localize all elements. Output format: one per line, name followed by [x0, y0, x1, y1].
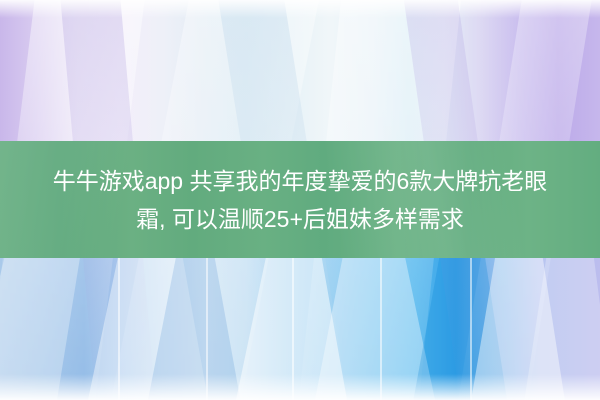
caption-banner: 牛牛游戏app 共享我的年度挚爱的6款大牌抗老眼 霜, 可以温顺25+后姐妹多样…	[0, 141, 600, 258]
bottom-edge-glow	[0, 374, 600, 400]
banner-image: 牛牛游戏app 共享我的年度挚爱的6款大牌抗老眼 霜, 可以温顺25+后姐妹多样…	[0, 0, 600, 400]
caption-line-2: 霜, 可以温顺25+后姐妹多样需求	[136, 200, 464, 238]
top-edge-glow	[0, 0, 600, 18]
caption-line-1: 牛牛游戏app 共享我的年度挚爱的6款大牌抗老眼	[53, 162, 548, 200]
